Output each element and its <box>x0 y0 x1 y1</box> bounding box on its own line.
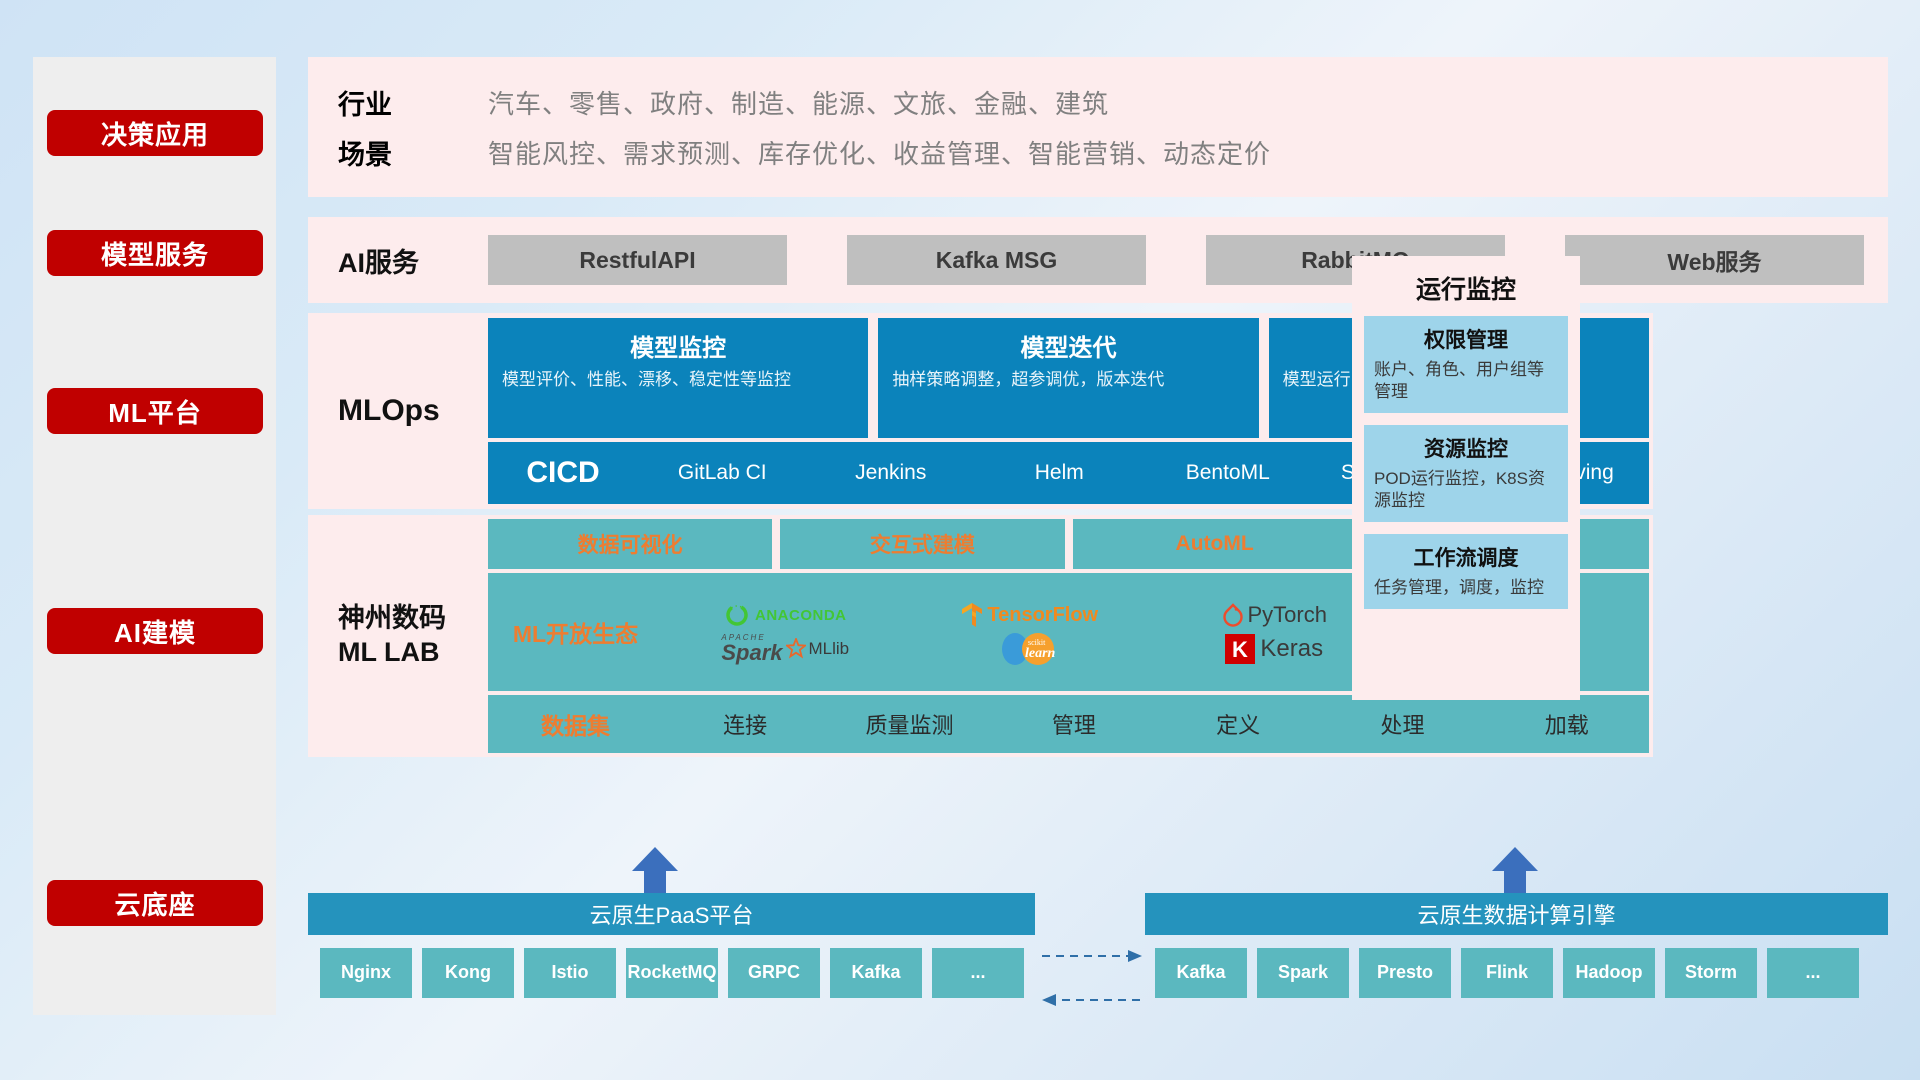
cicd-item-helm[interactable]: Helm <box>975 462 1144 484</box>
card-head: 资源监控 <box>1374 433 1558 463</box>
cicd-title: CICD <box>488 456 638 490</box>
ai-service-band: AI服务 RestfulAPI Kafka MSG RabbitMQ Web服务 <box>308 217 1888 303</box>
card-title: 模型迭代 <box>892 328 1244 363</box>
arrow-up-paas <box>620 845 690 895</box>
scenario-row: 场景 智能风控、需求预测、库存优化、收益管理、智能营销、动态定价 <box>338 127 1888 177</box>
card-body: POD运行监控，K8S资源监控 <box>1374 468 1558 512</box>
chip-grpc[interactable]: GRPC <box>728 948 820 998</box>
runtime-monitor-column: 运行监控 权限管理 账户、角色、用户组等管理 资源监控 POD运行监控，K8S资… <box>1352 256 1580 700</box>
chip-storm[interactable]: Storm <box>1665 948 1757 998</box>
dataset-item-connect[interactable]: 连接 <box>663 708 827 740</box>
industry-scenario-band: 行业 汽车、零售、政府、制造、能源、文旅、金融、建筑 场景 智能风控、需求预测、… <box>308 57 1888 197</box>
chip-istio[interactable]: Istio <box>524 948 616 998</box>
cloud-data-engine-bar[interactable]: 云原生数据计算引擎 <box>1145 893 1888 935</box>
industry-row: 行业 汽车、零售、政府、制造、能源、文旅、金融、建筑 <box>338 77 1888 127</box>
mlops-card-model-iteration[interactable]: 模型迭代 抽样策略调整，超参调优，版本迭代 <box>878 318 1258 438</box>
ml-lab-label: 神州数码 ML LAB <box>338 602 488 670</box>
ai-service-item-kafka-msg[interactable]: Kafka MSG <box>847 235 1146 285</box>
card-body: 任务管理，调度，监控 <box>1374 577 1558 599</box>
layer-chip-label: AI建模 <box>114 613 196 650</box>
cloud-paas-bar[interactable]: 云原生PaaS平台 <box>308 893 1035 935</box>
anaconda-icon <box>724 602 750 628</box>
ml-open-ecosystem-title: ML开放生态 <box>488 615 663 649</box>
monitor-card-workflow[interactable]: 工作流调度 任务管理，调度，监控 <box>1364 534 1568 609</box>
mllib-label: MLlib <box>809 639 850 659</box>
dataset-title: 数据集 <box>488 707 663 741</box>
chip-nginx[interactable]: Nginx <box>320 948 412 998</box>
pytorch-logo[interactable]: PyTorch <box>1222 602 1327 628</box>
ai-service-items: RestfulAPI Kafka MSG RabbitMQ Web服务 <box>488 235 1888 285</box>
card-head: 工作流调度 <box>1374 542 1558 572</box>
layer-chip-label: 决策应用 <box>101 115 209 152</box>
dataset-item-load[interactable]: 加载 <box>1485 708 1649 740</box>
runtime-monitor-title: 运行监控 <box>1352 256 1580 316</box>
arrow-up-data-engine <box>1480 845 1550 895</box>
mlops-card-model-monitoring[interactable]: 模型监控 模型评价、性能、漂移、稳定性等监控 <box>488 318 868 438</box>
layer-chip-decision[interactable]: 决策应用 <box>47 110 263 156</box>
monitor-card-permission[interactable]: 权限管理 账户、角色、用户组等管理 <box>1364 316 1568 413</box>
layer-chip-label: 模型服务 <box>101 235 209 272</box>
card-desc: 模型评价、性能、漂移、稳定性等监控 <box>502 369 854 391</box>
pytorch-label: PyTorch <box>1248 602 1327 628</box>
dashed-connectors <box>1040 940 1150 1010</box>
scenario-values: 智能风控、需求预测、库存优化、收益管理、智能营销、动态定价 <box>488 134 1271 171</box>
scikit-learn-logo[interactable]: scikit learn <box>998 632 1062 666</box>
cicd-item-bentoml[interactable]: BentoML <box>1144 462 1313 484</box>
keras-icon: K <box>1225 634 1255 664</box>
chip-kafka[interactable]: Kafka <box>830 948 922 998</box>
cicd-item-jenkins[interactable]: Jenkins <box>807 462 976 484</box>
chip-more-left[interactable]: ... <box>932 948 1024 998</box>
chip-hadoop[interactable]: Hadoop <box>1563 948 1655 998</box>
spark-star-icon <box>786 638 806 660</box>
chip-rocketmq[interactable]: RocketMQ <box>626 948 718 998</box>
keras-logo[interactable]: K Keras <box>1225 634 1323 664</box>
spark-label: Spark <box>721 642 782 664</box>
layer-chip-ai-modeling[interactable]: AI建模 <box>47 608 263 654</box>
anaconda-label: ANACONDA <box>755 607 847 624</box>
chip-kafka-right[interactable]: Kafka <box>1155 948 1247 998</box>
tab-interactive-modeling[interactable]: 交互式建模 <box>780 519 1064 569</box>
chip-kong[interactable]: Kong <box>422 948 514 998</box>
tensorflow-label: TensorFlow <box>987 604 1098 627</box>
monitor-card-resource[interactable]: 资源监控 POD运行监控，K8S资源监控 <box>1364 425 1568 522</box>
ml-lab-label-line1: 神州数码 <box>338 602 488 636</box>
layer-chip-cloud-base[interactable]: 云底座 <box>47 880 263 926</box>
layer-chip-ml-platform[interactable]: ML平台 <box>47 388 263 434</box>
scenario-label: 场景 <box>338 133 488 172</box>
card-body: 账户、角色、用户组等管理 <box>1374 359 1558 403</box>
ai-service-label: AI服务 <box>338 241 488 280</box>
layer-chip-label: ML平台 <box>108 393 202 430</box>
dataset-items: 连接 质量监测 管理 定义 处理 加载 <box>663 708 1649 740</box>
scikit-learn-icon: scikit learn <box>998 632 1062 666</box>
dataset-item-manage[interactable]: 管理 <box>992 708 1156 740</box>
chip-flink[interactable]: Flink <box>1461 948 1553 998</box>
anaconda-logo[interactable]: ANACONDA <box>724 602 847 628</box>
ai-service-item-web[interactable]: Web服务 <box>1565 235 1864 285</box>
keras-label: Keras <box>1260 635 1323 663</box>
tab-automl[interactable]: AutoML <box>1073 519 1357 569</box>
ai-service-item-restfulapi[interactable]: RestfulAPI <box>488 235 787 285</box>
dataset-item-process[interactable]: 处理 <box>1320 708 1484 740</box>
tab-data-visualization[interactable]: 数据可视化 <box>488 519 772 569</box>
mlops-label: MLOps <box>338 394 488 428</box>
layer-chip-model-service[interactable]: 模型服务 <box>47 230 263 276</box>
layer-chip-label: 云底座 <box>114 885 195 922</box>
dataset-row: 数据集 连接 质量监测 管理 定义 处理 加载 <box>488 695 1649 753</box>
industry-label: 行业 <box>338 83 488 122</box>
dataset-item-quality-monitor[interactable]: 质量监测 <box>827 708 991 740</box>
chip-presto[interactable]: Presto <box>1359 948 1451 998</box>
pytorch-icon <box>1222 603 1244 627</box>
data-engine-component-chips: Kafka Spark Presto Flink Hadoop Storm ..… <box>1155 948 1859 998</box>
card-desc: 抽样策略调整，超参调优，版本迭代 <box>892 369 1244 391</box>
tensorflow-icon <box>961 602 983 628</box>
layer-rail <box>33 57 276 1015</box>
svg-text:K: K <box>1232 637 1248 662</box>
card-title: 模型监控 <box>502 328 854 363</box>
cicd-item-gitlab-ci[interactable]: GitLab CI <box>638 462 807 484</box>
industry-values: 汽车、零售、政府、制造、能源、文旅、金融、建筑 <box>488 84 1109 121</box>
architecture-diagram: 决策应用 模型服务 ML平台 AI建模 云底座 行业 汽车、零售、政府、制造、能… <box>0 0 1920 1080</box>
spark-mllib-logo[interactable]: APACHE Spark MLlib <box>721 634 849 664</box>
ml-lab-label-line2: ML LAB <box>338 636 488 670</box>
svg-text:learn: learn <box>1025 646 1056 661</box>
paas-component-chips: Nginx Kong Istio RocketMQ GRPC Kafka ... <box>320 948 1024 998</box>
chip-spark[interactable]: Spark <box>1257 948 1349 998</box>
chip-more-right[interactable]: ... <box>1767 948 1859 998</box>
card-head: 权限管理 <box>1374 324 1558 354</box>
tensorflow-logo[interactable]: TensorFlow <box>961 602 1098 628</box>
dataset-item-define[interactable]: 定义 <box>1156 708 1320 740</box>
